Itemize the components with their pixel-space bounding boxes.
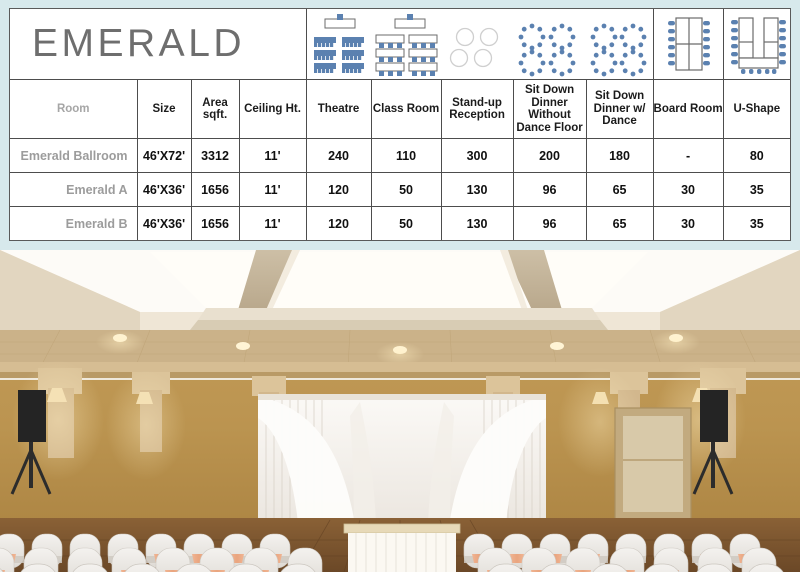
cell-class-room: 110 bbox=[371, 139, 441, 173]
cell-sitdown-with-dance: 65 bbox=[586, 173, 653, 207]
theatre-setup-icon bbox=[306, 9, 371, 80]
cell-ceiling-ht: 11' bbox=[239, 207, 306, 241]
cell-class-room: 50 bbox=[371, 207, 441, 241]
sitdown-wd-line2: Dinner w/ bbox=[594, 103, 646, 115]
sitdown-wd-line3: Dance bbox=[602, 115, 637, 127]
sitdown-nd-line1: Sit Down bbox=[525, 84, 574, 96]
cell-u-shape: 35 bbox=[723, 173, 790, 207]
capacity-chart-card: EMERALD bbox=[9, 8, 791, 241]
standup-line1: Stand-up bbox=[452, 97, 502, 109]
cell-sitdown-with-dance: 180 bbox=[586, 139, 653, 173]
cell-standup-reception: 300 bbox=[441, 139, 513, 173]
title-icon-row: EMERALD bbox=[10, 9, 790, 80]
sitdown-dinner-no-dancefloor-setup-icon bbox=[513, 9, 586, 80]
cell-area-sqft: 1656 bbox=[191, 207, 239, 241]
cell-sitdown-no-dance: 200 bbox=[513, 139, 586, 173]
column-header-theatre: Theatre bbox=[306, 80, 371, 139]
column-header-board-room: Board Room bbox=[653, 80, 723, 139]
cell-size: 46'X36' bbox=[137, 207, 191, 241]
cell-u-shape: 80 bbox=[723, 139, 790, 173]
column-header-area-sqft: Area sqft. bbox=[191, 80, 239, 139]
table-header-row: Room Size Area sqft. Ceiling Ht. Theatre… bbox=[10, 80, 790, 139]
column-header-ceiling-ht: Ceiling Ht. bbox=[239, 80, 306, 139]
classroom-setup-icon bbox=[371, 9, 441, 80]
column-header-size: Size bbox=[137, 80, 191, 139]
cell-class-room: 50 bbox=[371, 173, 441, 207]
cell-size: 46'X36' bbox=[137, 173, 191, 207]
column-header-room: Room bbox=[10, 80, 137, 139]
cell-sitdown-no-dance: 96 bbox=[513, 173, 586, 207]
column-header-area-line2: sqft. bbox=[203, 109, 227, 121]
table-row: Emerald Ballroom 46'X72' 3312 11' 240 11… bbox=[10, 139, 790, 173]
column-header-sitdown-with-dance: Sit Down Dinner w/ Dance bbox=[586, 80, 653, 139]
table-row: Emerald B 46'X36' 1656 11' 120 50 130 96… bbox=[10, 207, 790, 241]
column-header-sitdown-no-dancefloor: Sit Down Dinner Without Dance Floor bbox=[513, 80, 586, 139]
cell-ceiling-ht: 11' bbox=[239, 173, 306, 207]
sitdown-wd-line1: Sit Down bbox=[595, 90, 644, 102]
column-header-class-room: Class Room bbox=[371, 80, 441, 139]
column-header-standup-reception: Stand-up Reception bbox=[441, 80, 513, 139]
capacity-table: EMERALD bbox=[10, 9, 790, 240]
cell-u-shape: 35 bbox=[723, 207, 790, 241]
standup-reception-setup-icon bbox=[441, 9, 513, 80]
cell-board-room: 30 bbox=[653, 207, 723, 241]
cell-room: Emerald B bbox=[10, 207, 137, 241]
sitdown-dinner-with-dance-setup-icon bbox=[586, 9, 653, 80]
page-title: EMERALD bbox=[10, 9, 306, 80]
cell-area-sqft: 3312 bbox=[191, 139, 239, 173]
cell-sitdown-with-dance: 65 bbox=[586, 207, 653, 241]
boardroom-setup-icon bbox=[653, 9, 723, 80]
standup-line2: Reception bbox=[449, 109, 505, 121]
cell-area-sqft: 1656 bbox=[191, 173, 239, 207]
cell-theatre: 120 bbox=[306, 207, 371, 241]
cell-standup-reception: 130 bbox=[441, 173, 513, 207]
table-row: Emerald A 46'X36' 1656 11' 120 50 130 96… bbox=[10, 173, 790, 207]
sitdown-nd-line3: Without bbox=[528, 109, 571, 121]
cell-board-room: - bbox=[653, 139, 723, 173]
sitdown-nd-line4: Dance Floor bbox=[516, 122, 582, 134]
cell-room: Emerald Ballroom bbox=[10, 139, 137, 173]
column-header-u-shape: U-Shape bbox=[723, 80, 790, 139]
cell-size: 46'X72' bbox=[137, 139, 191, 173]
cell-standup-reception: 130 bbox=[441, 207, 513, 241]
cell-sitdown-no-dance: 96 bbox=[513, 207, 586, 241]
emerald-ballroom-photo bbox=[0, 250, 800, 572]
ushape-setup-icon bbox=[723, 9, 790, 80]
sitdown-nd-line2: Dinner bbox=[531, 97, 567, 109]
column-header-area-line1: Area bbox=[202, 97, 228, 109]
cell-theatre: 240 bbox=[306, 139, 371, 173]
cell-ceiling-ht: 11' bbox=[239, 139, 306, 173]
cell-theatre: 120 bbox=[306, 173, 371, 207]
cell-board-room: 30 bbox=[653, 173, 723, 207]
cell-room: Emerald A bbox=[10, 173, 137, 207]
